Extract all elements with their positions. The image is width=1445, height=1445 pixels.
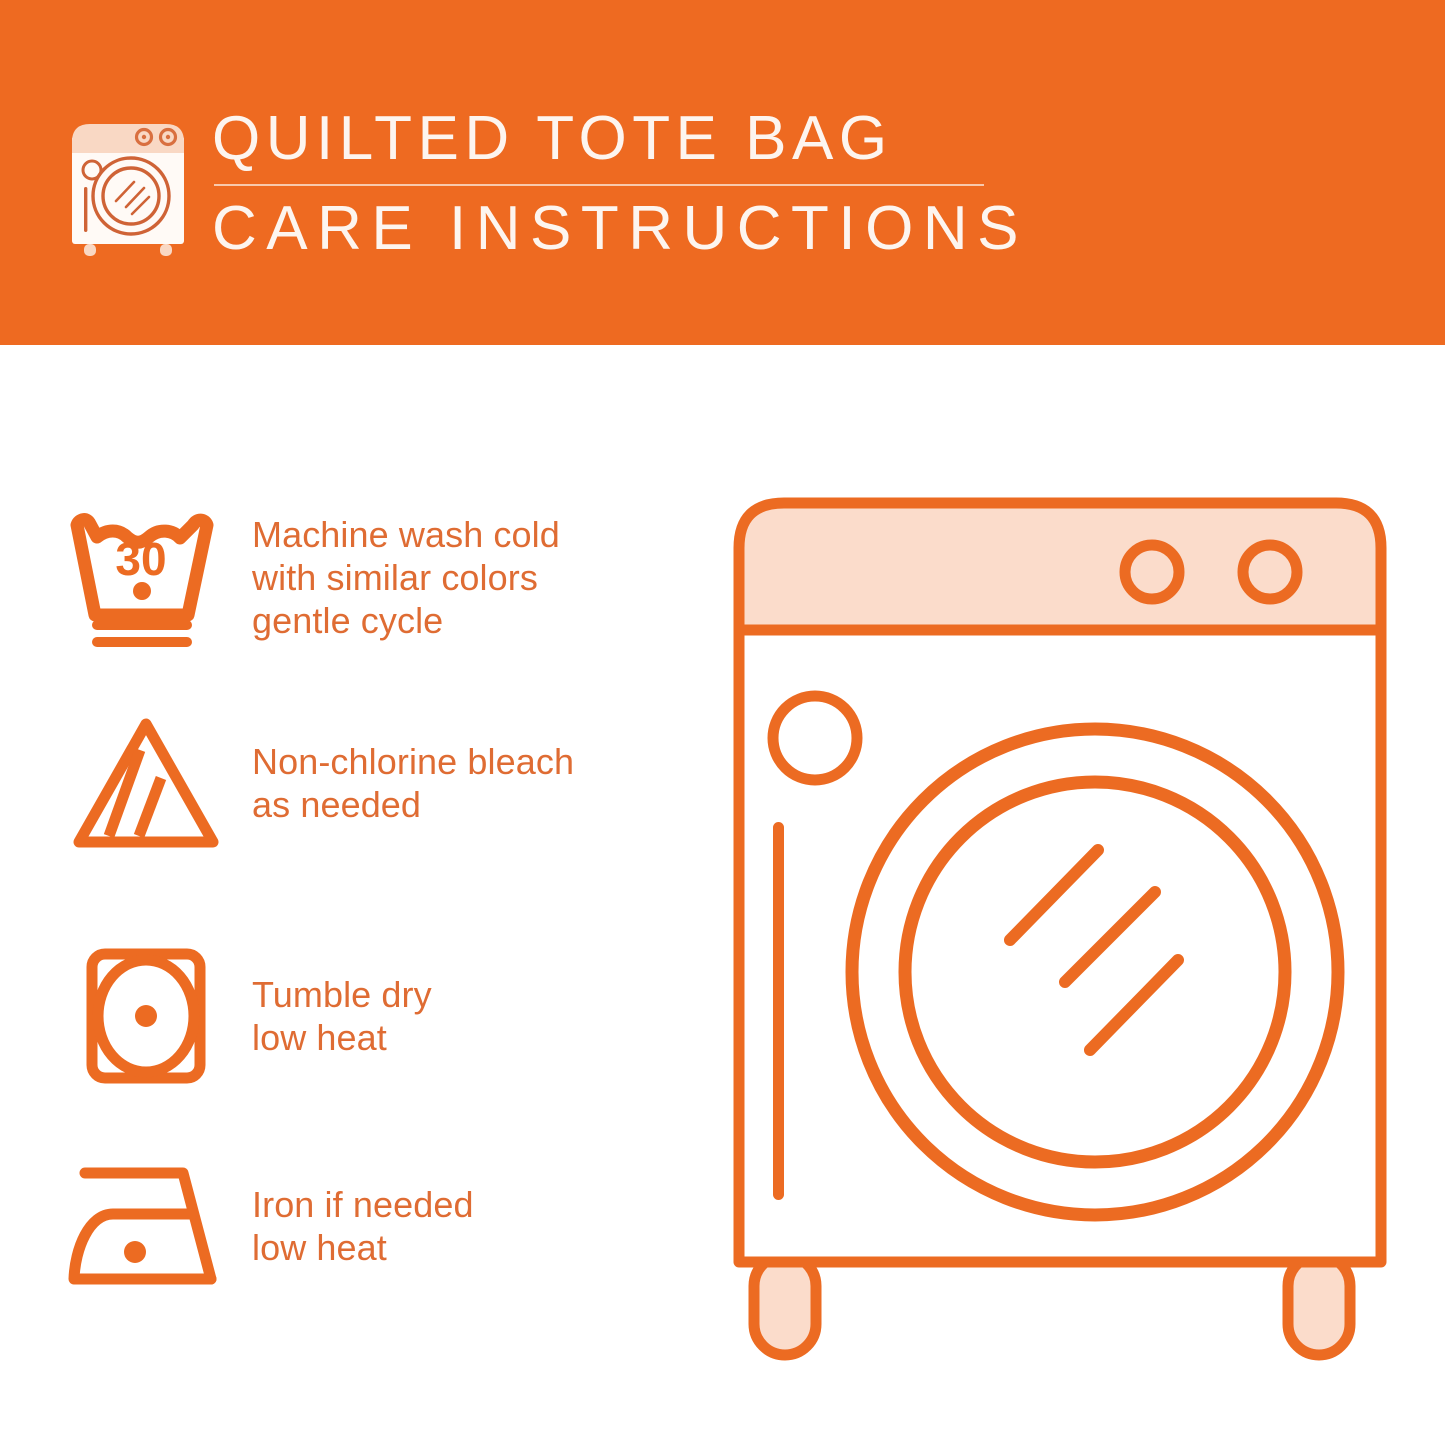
iron-icon (56, 1143, 236, 1308)
care-row: 30 Machine wash cold with similar colors… (0, 495, 700, 660)
washing-machine-icon (64, 108, 192, 256)
indicator-bar (773, 822, 784, 1200)
leg-right (1288, 1255, 1350, 1355)
title-divider (214, 184, 984, 186)
care-label-line: Non-chlorine bleach (252, 740, 574, 783)
header-title-block: QUILTED TOTE BAG CARE INSTRUCTIONS (212, 104, 1392, 264)
door-inner-ring (905, 782, 1285, 1162)
page-title: QUILTED TOTE BAG (212, 104, 1392, 174)
tumble-dry-icon (56, 933, 236, 1098)
care-label: Non-chlorine bleach as needed (252, 740, 574, 826)
front-load-washing-machine-illustration (700, 450, 1420, 1390)
care-instructions-list: 30 Machine wash cold with similar colors… (0, 345, 700, 1445)
wash-temperature-label: 30 (115, 533, 166, 585)
care-instructions-infographic: QUILTED TOTE BAG CARE INSTRUCTIONS 30 (0, 0, 1445, 1445)
care-label-line: Machine wash cold (252, 513, 560, 556)
door-outer-ring (852, 729, 1338, 1215)
care-row: Non-chlorine bleach as needed (0, 700, 700, 865)
machine-wash-tub-icon: 30 (56, 495, 236, 660)
care-label: Tumble dry low heat (252, 973, 432, 1059)
leg-left (754, 1255, 816, 1355)
non-chlorine-bleach-triangle-icon (56, 700, 236, 865)
care-label-line: Iron if needed (252, 1183, 474, 1226)
page-subtitle: CARE INSTRUCTIONS (212, 194, 1392, 264)
care-label: Machine wash cold with similar colors ge… (252, 513, 560, 642)
header-band: QUILTED TOTE BAG CARE INSTRUCTIONS (0, 0, 1445, 345)
door-shine-lines (1010, 850, 1178, 1050)
care-label-line: gentle cycle (252, 599, 560, 642)
care-row: Iron if needed low heat (0, 1143, 700, 1308)
care-label-line: Tumble dry (252, 973, 432, 1016)
care-row: Tumble dry low heat (0, 933, 700, 1098)
care-label-line: low heat (252, 1016, 432, 1059)
control-panel-fill (739, 503, 1381, 630)
detergent-port (773, 696, 857, 780)
care-label-line: as needed (252, 783, 574, 826)
care-label-line: with similar colors (252, 556, 560, 599)
care-label-line: low heat (252, 1226, 474, 1269)
care-label: Iron if needed low heat (252, 1183, 474, 1269)
